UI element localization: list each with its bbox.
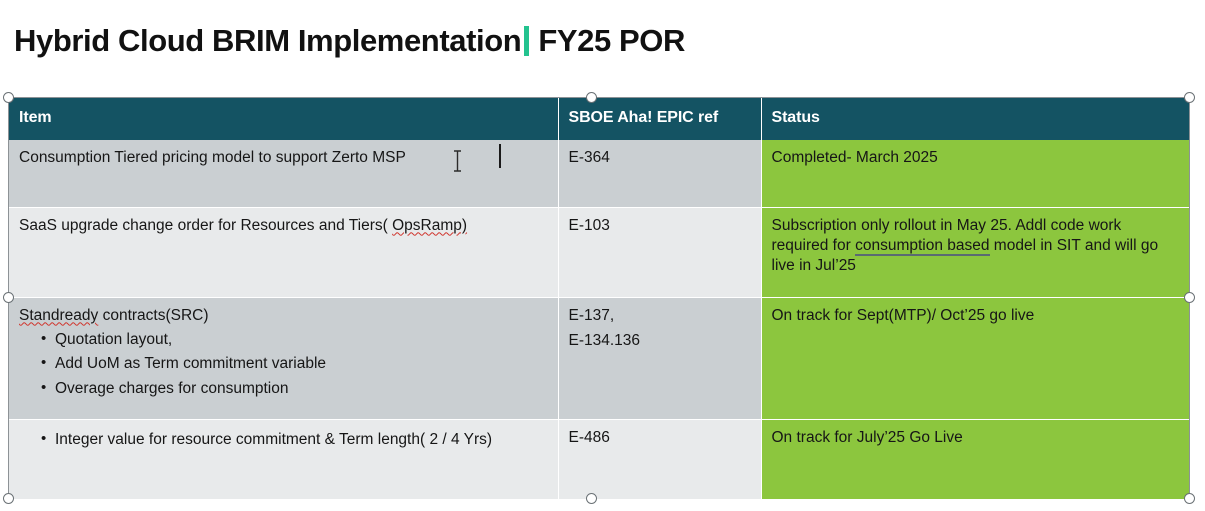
- item-heading: Standready contracts(SRC): [19, 306, 548, 326]
- list-item: Integer value for resource commitment & …: [41, 430, 548, 450]
- resize-handle-top-center[interactable]: [586, 92, 597, 103]
- cell-epic[interactable]: E-364: [558, 140, 761, 207]
- cell-item[interactable]: Standready contracts(SRC) Quotation layo…: [9, 297, 558, 419]
- item-bullet-list: Integer value for resource commitment & …: [19, 430, 548, 450]
- table-row[interactable]: Consumption Tiered pricing model to supp…: [9, 140, 1189, 207]
- cell-epic[interactable]: E-137, E-134.136: [558, 297, 761, 419]
- resize-handle-middle-right[interactable]: [1184, 292, 1195, 303]
- table-header-row: Item SBOE Aha! EPIC ref Status: [9, 98, 1189, 140]
- item-bullet-list: Quotation layout, Add UoM as Term commit…: [19, 330, 548, 399]
- por-table-container[interactable]: Item SBOE Aha! EPIC ref Status Consumpti…: [8, 97, 1190, 498]
- item-heading-rest: contracts(SRC): [98, 307, 208, 324]
- status-text-underlined: consumption based: [855, 237, 989, 256]
- cell-item[interactable]: SaaS upgrade change order for Resources …: [9, 207, 558, 297]
- resize-handle-bottom-right[interactable]: [1184, 493, 1195, 504]
- page-title-main: Hybrid Cloud BRIM Implementation: [14, 23, 521, 59]
- list-item: Quotation layout,: [41, 330, 548, 350]
- item-text-prefix: Consumption Tiered pricing model to supp…: [19, 149, 368, 166]
- i-beam-cursor-icon: [453, 150, 462, 172]
- cell-item[interactable]: Consumption Tiered pricing model to supp…: [9, 140, 558, 207]
- epic-ref-line: E-134.136: [569, 331, 751, 351]
- cell-epic[interactable]: E-486: [558, 419, 761, 499]
- table-row[interactable]: Integer value for resource commitment & …: [9, 419, 1189, 499]
- resize-handle-bottom-center[interactable]: [586, 493, 597, 504]
- resize-handle-top-right[interactable]: [1184, 92, 1195, 103]
- item-text-line1: SaaS upgrade change order for Resources …: [19, 217, 388, 234]
- table-row[interactable]: SaaS upgrade change order for Resources …: [9, 207, 1189, 297]
- por-table[interactable]: Item SBOE Aha! EPIC ref Status Consumpti…: [9, 98, 1189, 499]
- text-insertion-caret: [499, 144, 501, 168]
- column-header-epic[interactable]: SBOE Aha! EPIC ref: [558, 98, 761, 140]
- resize-handle-bottom-left[interactable]: [3, 493, 14, 504]
- epic-ref-line: E-137,: [569, 306, 751, 326]
- list-item: Overage charges for consumption: [41, 379, 548, 399]
- list-item: Add UoM as Term commitment variable: [41, 354, 548, 374]
- item-text-suffix: MSP: [372, 149, 406, 166]
- item-heading-misspelled: Standready: [19, 307, 98, 324]
- page-title-suffix: FY25 POR: [538, 23, 685, 59]
- resize-handle-top-left[interactable]: [3, 92, 14, 103]
- cell-status[interactable]: Subscription only rollout in May 25. Add…: [761, 207, 1189, 297]
- column-header-status[interactable]: Status: [761, 98, 1189, 140]
- page-title: Hybrid Cloud BRIM Implementation FY25 PO…: [14, 18, 685, 64]
- column-header-item[interactable]: Item: [9, 98, 558, 140]
- item-text-line2-misspelled: OpsRamp): [392, 217, 467, 234]
- cell-status[interactable]: On track for Sept(MTP)/ Oct’25 go live: [761, 297, 1189, 419]
- cell-epic[interactable]: E-103: [558, 207, 761, 297]
- table-row[interactable]: Standready contracts(SRC) Quotation layo…: [9, 297, 1189, 419]
- cell-status[interactable]: Completed- March 2025: [761, 140, 1189, 207]
- cell-status[interactable]: On track for July’25 Go Live: [761, 419, 1189, 499]
- title-accent-bar: [524, 26, 529, 56]
- cell-item[interactable]: Integer value for resource commitment & …: [9, 419, 558, 499]
- resize-handle-middle-left[interactable]: [3, 292, 14, 303]
